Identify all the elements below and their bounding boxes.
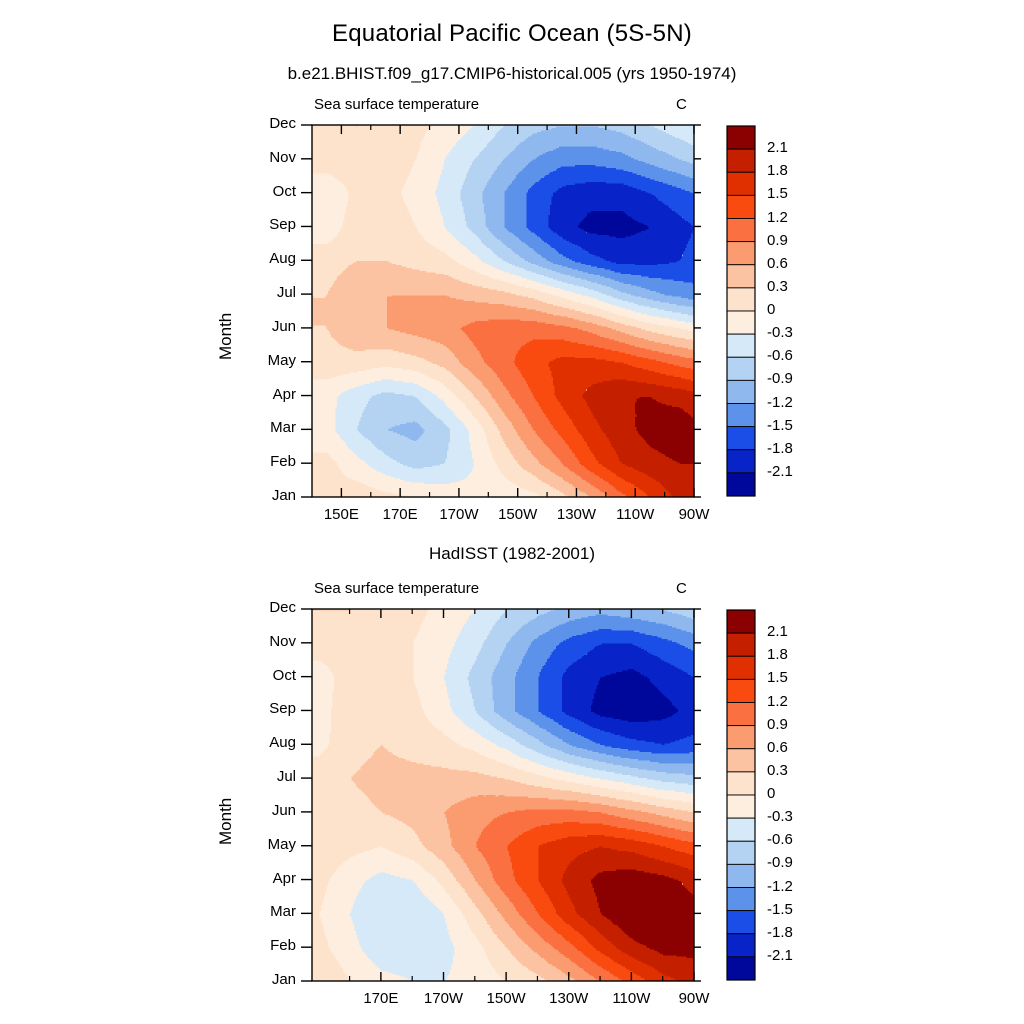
colorbar-tick-label: 0.3 bbox=[767, 762, 837, 779]
colorbar-tick-label: 0 bbox=[767, 785, 837, 802]
colorbar-tick-label: -1.5 bbox=[767, 901, 837, 918]
colorbar-tick-label: 1.5 bbox=[767, 669, 837, 686]
colorbar-tick-label: -0.6 bbox=[767, 831, 837, 848]
colorbar-tick-label: 1.2 bbox=[767, 693, 837, 710]
colorbar-tick-label: -1.8 bbox=[767, 924, 837, 941]
colorbar-tick-label: -2.1 bbox=[767, 947, 837, 964]
colorbar-tick-label: 0.6 bbox=[767, 739, 837, 756]
colorbar-tick-label: -1.2 bbox=[767, 878, 837, 895]
colorbar-tick-label: 2.1 bbox=[767, 623, 837, 640]
panel-2-colorbar-labels: 2.11.81.51.20.90.60.30-0.3-0.6-0.9-1.2-1… bbox=[0, 0, 1024, 1024]
colorbar-tick-label: 0.9 bbox=[767, 716, 837, 733]
colorbar-tick-label: -0.3 bbox=[767, 808, 837, 825]
colorbar-tick-label: 1.8 bbox=[767, 646, 837, 663]
colorbar-tick-label: -0.9 bbox=[767, 854, 837, 871]
